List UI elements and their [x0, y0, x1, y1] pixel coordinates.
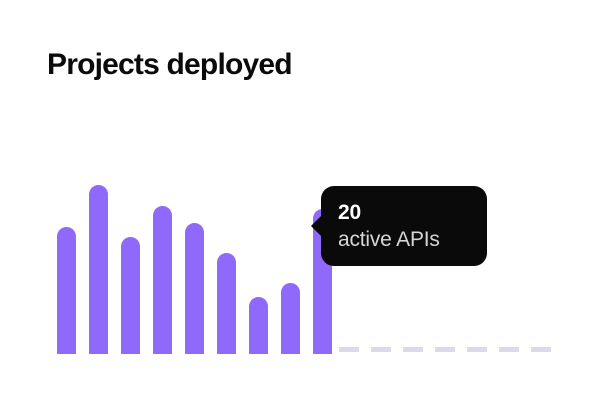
chart-bar-1[interactable]	[57, 227, 76, 354]
chart-bar-5[interactable]	[185, 223, 204, 354]
chart-bar-7[interactable]	[249, 297, 268, 354]
data-point-tooltip: 20 active APIs	[321, 186, 487, 266]
baseline-dash-segment	[467, 347, 487, 352]
chart-bar-4[interactable]	[153, 206, 172, 354]
baseline-dash-segment	[339, 347, 359, 352]
baseline-dash-segment	[403, 347, 423, 352]
baseline-dash-segment	[435, 347, 455, 352]
bar-chart-plot-area: 20 active APIs	[0, 0, 612, 400]
baseline-dashed-line	[339, 347, 559, 352]
baseline-dash-segment	[371, 347, 391, 352]
tooltip-value: 20	[338, 200, 487, 226]
chart-bar-8[interactable]	[281, 283, 300, 354]
projects-deployed-chart-widget: Projects deployed 20 active APIs	[0, 0, 612, 400]
baseline-dash-segment	[531, 347, 551, 352]
chart-bar-2[interactable]	[89, 185, 108, 354]
tooltip-label: active APIs	[338, 226, 487, 253]
chart-bar-3[interactable]	[121, 237, 140, 354]
tooltip-arrow-icon	[311, 215, 322, 237]
baseline-dash-segment	[499, 347, 519, 352]
chart-bar-6[interactable]	[217, 253, 236, 354]
